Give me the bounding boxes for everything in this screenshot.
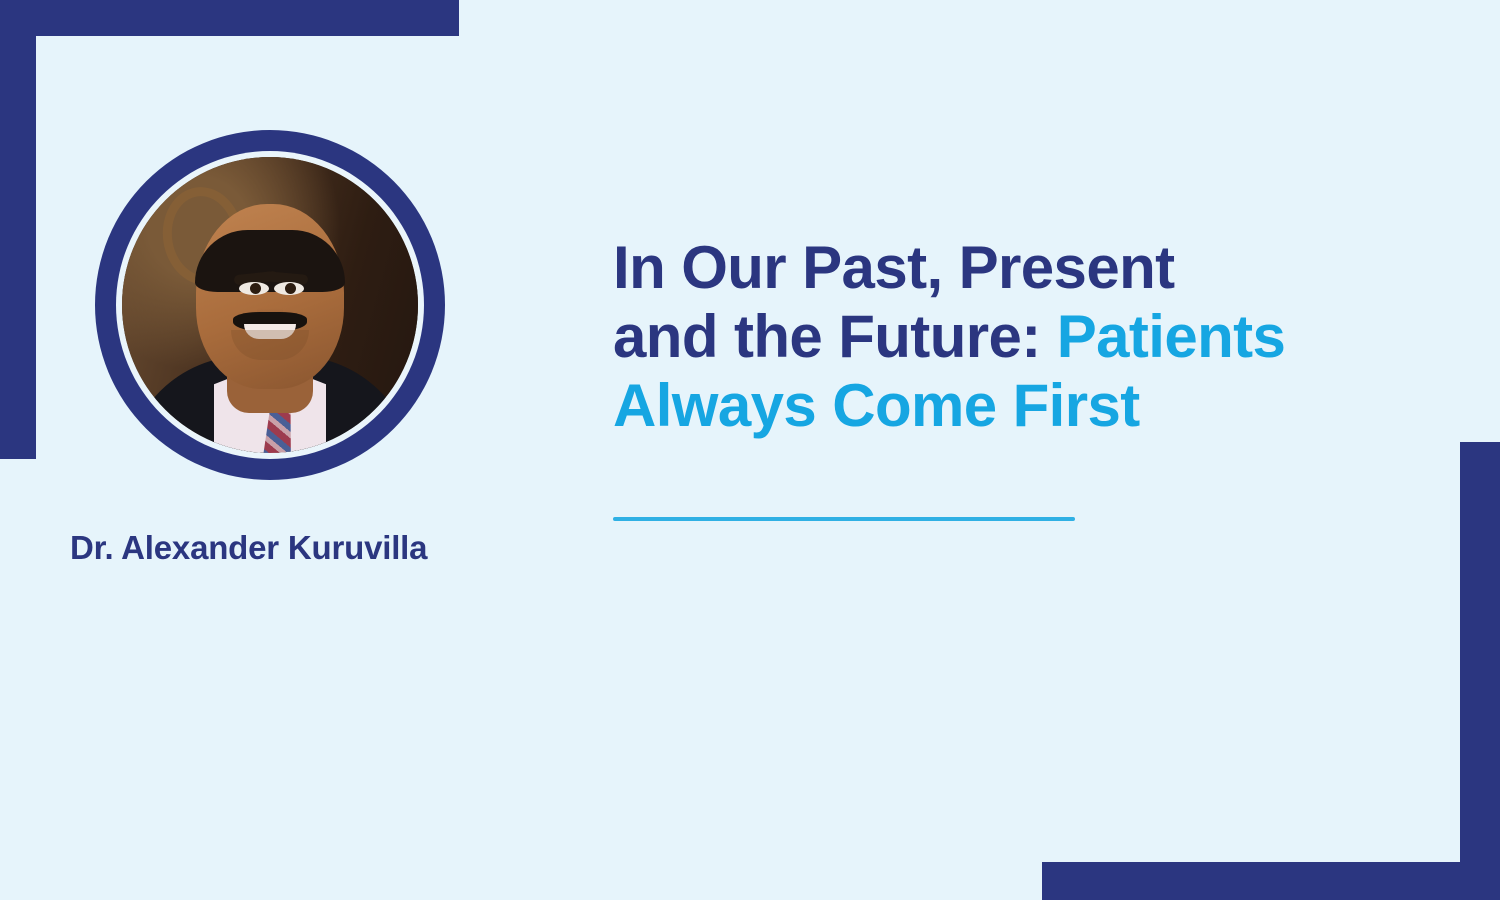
portrait-chin-shadow xyxy=(231,330,309,360)
avatar xyxy=(95,130,445,480)
corner-frame-top-left-horizontal xyxy=(0,0,459,36)
headline-line-2: and the Future: Patients xyxy=(613,302,1443,371)
corner-frame-top-left-vertical xyxy=(0,0,36,459)
headline-line-3-cyan: Always Come First xyxy=(613,372,1140,439)
headline-line-2-cyan: Patients xyxy=(1057,303,1286,370)
corner-frame-bottom-right-vertical xyxy=(1460,442,1500,900)
headline-line-2-navy: and the Future: xyxy=(613,303,1057,370)
speaker-name: Dr. Alexander Kuruvilla xyxy=(70,529,427,567)
portrait-face xyxy=(196,204,344,389)
corner-frame-bottom-right-horizontal xyxy=(1042,862,1500,900)
page-title: In Our Past, Present and the Future: Pat… xyxy=(613,233,1443,440)
avatar-ring-gap xyxy=(116,151,424,459)
slide-canvas: Dr. Alexander Kuruvilla In Our Past, Pre… xyxy=(0,0,1500,900)
portrait-hair xyxy=(195,230,345,292)
headline-line-3: Always Come First xyxy=(613,371,1443,440)
avatar-photo xyxy=(122,157,418,453)
headline-line-1: In Our Past, Present xyxy=(613,233,1443,302)
headline-accent-rule xyxy=(613,517,1075,521)
headline-line-1-navy: In Our Past, Present xyxy=(613,234,1175,301)
